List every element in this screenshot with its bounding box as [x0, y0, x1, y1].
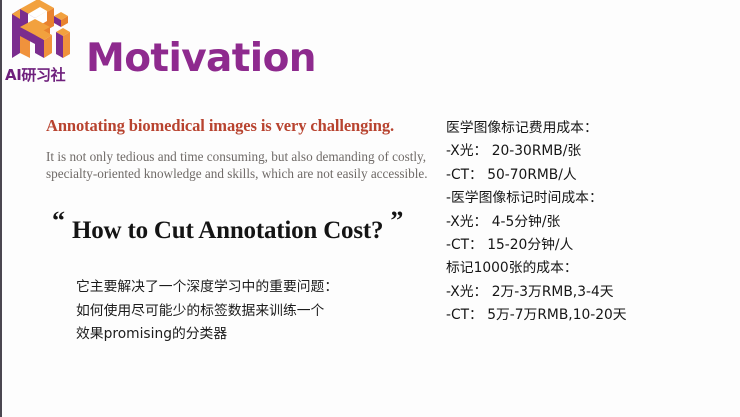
left-content-column: Annotating biomedical images is very cha…: [46, 116, 426, 182]
chinese-summary-line-1: 它主要解决了一个深度学习中的重要问题：: [76, 276, 338, 300]
cost-list-item: -X光： 20-30RMB/张: [446, 140, 627, 163]
brand-wordmark: AI研习社: [5, 64, 65, 85]
challenge-body-line-1: It is not only tedious and time consumin…: [46, 148, 426, 165]
chinese-summary-line-3: 效果promising的分类器: [76, 323, 338, 347]
slide-left-edge-strip: [0, 0, 2, 417]
open-quote-mark: “: [52, 206, 65, 235]
cost-list-item: -医学图像标记时间成本：: [446, 187, 627, 210]
challenge-headline: Annotating biomedical images is very cha…: [46, 116, 426, 136]
brand-logo: AI研习社: [4, 0, 80, 92]
close-quote-mark: ”: [390, 206, 403, 235]
question-quote-text: How to Cut Annotation Cost?: [65, 217, 390, 244]
cost-list-item: -CT： 5万-7万RMB,10-20天: [446, 304, 627, 327]
cost-list-item: 医学图像标记费用成本：: [446, 117, 627, 140]
cost-list-item: -X光： 2万-3万RMB,3-4天: [446, 281, 627, 304]
chinese-summary-block: 它主要解决了一个深度学习中的重要问题： 如何使用尽可能少的标签数据来训练一个 效…: [76, 276, 338, 347]
presentation-slide: AI研习社 Motivation Annotating biomedical i…: [0, 0, 740, 417]
challenge-body: It is not only tedious and time consumin…: [46, 148, 426, 182]
question-quote: “How to Cut Annotation Cost?”: [52, 206, 432, 245]
cost-list-item: -CT： 50-70RMB/人: [446, 164, 627, 187]
annotation-cost-list: 医学图像标记费用成本： -X光： 20-30RMB/张 -CT： 50-70RM…: [446, 117, 627, 328]
cost-list-item: 标记1000张的成本：: [446, 257, 627, 280]
isometric-ri-logo-icon: [4, 0, 76, 68]
chinese-summary-line-2: 如何使用尽可能少的标签数据来训练一个: [76, 300, 338, 324]
page-title: Motivation: [86, 36, 316, 81]
cost-list-item: -X光： 4-5分钟/张: [446, 211, 627, 234]
challenge-body-line-2: specialty-oriented knowledge and skills,…: [46, 165, 426, 182]
cost-list-item: -CT： 15-20分钟/人: [446, 234, 627, 257]
